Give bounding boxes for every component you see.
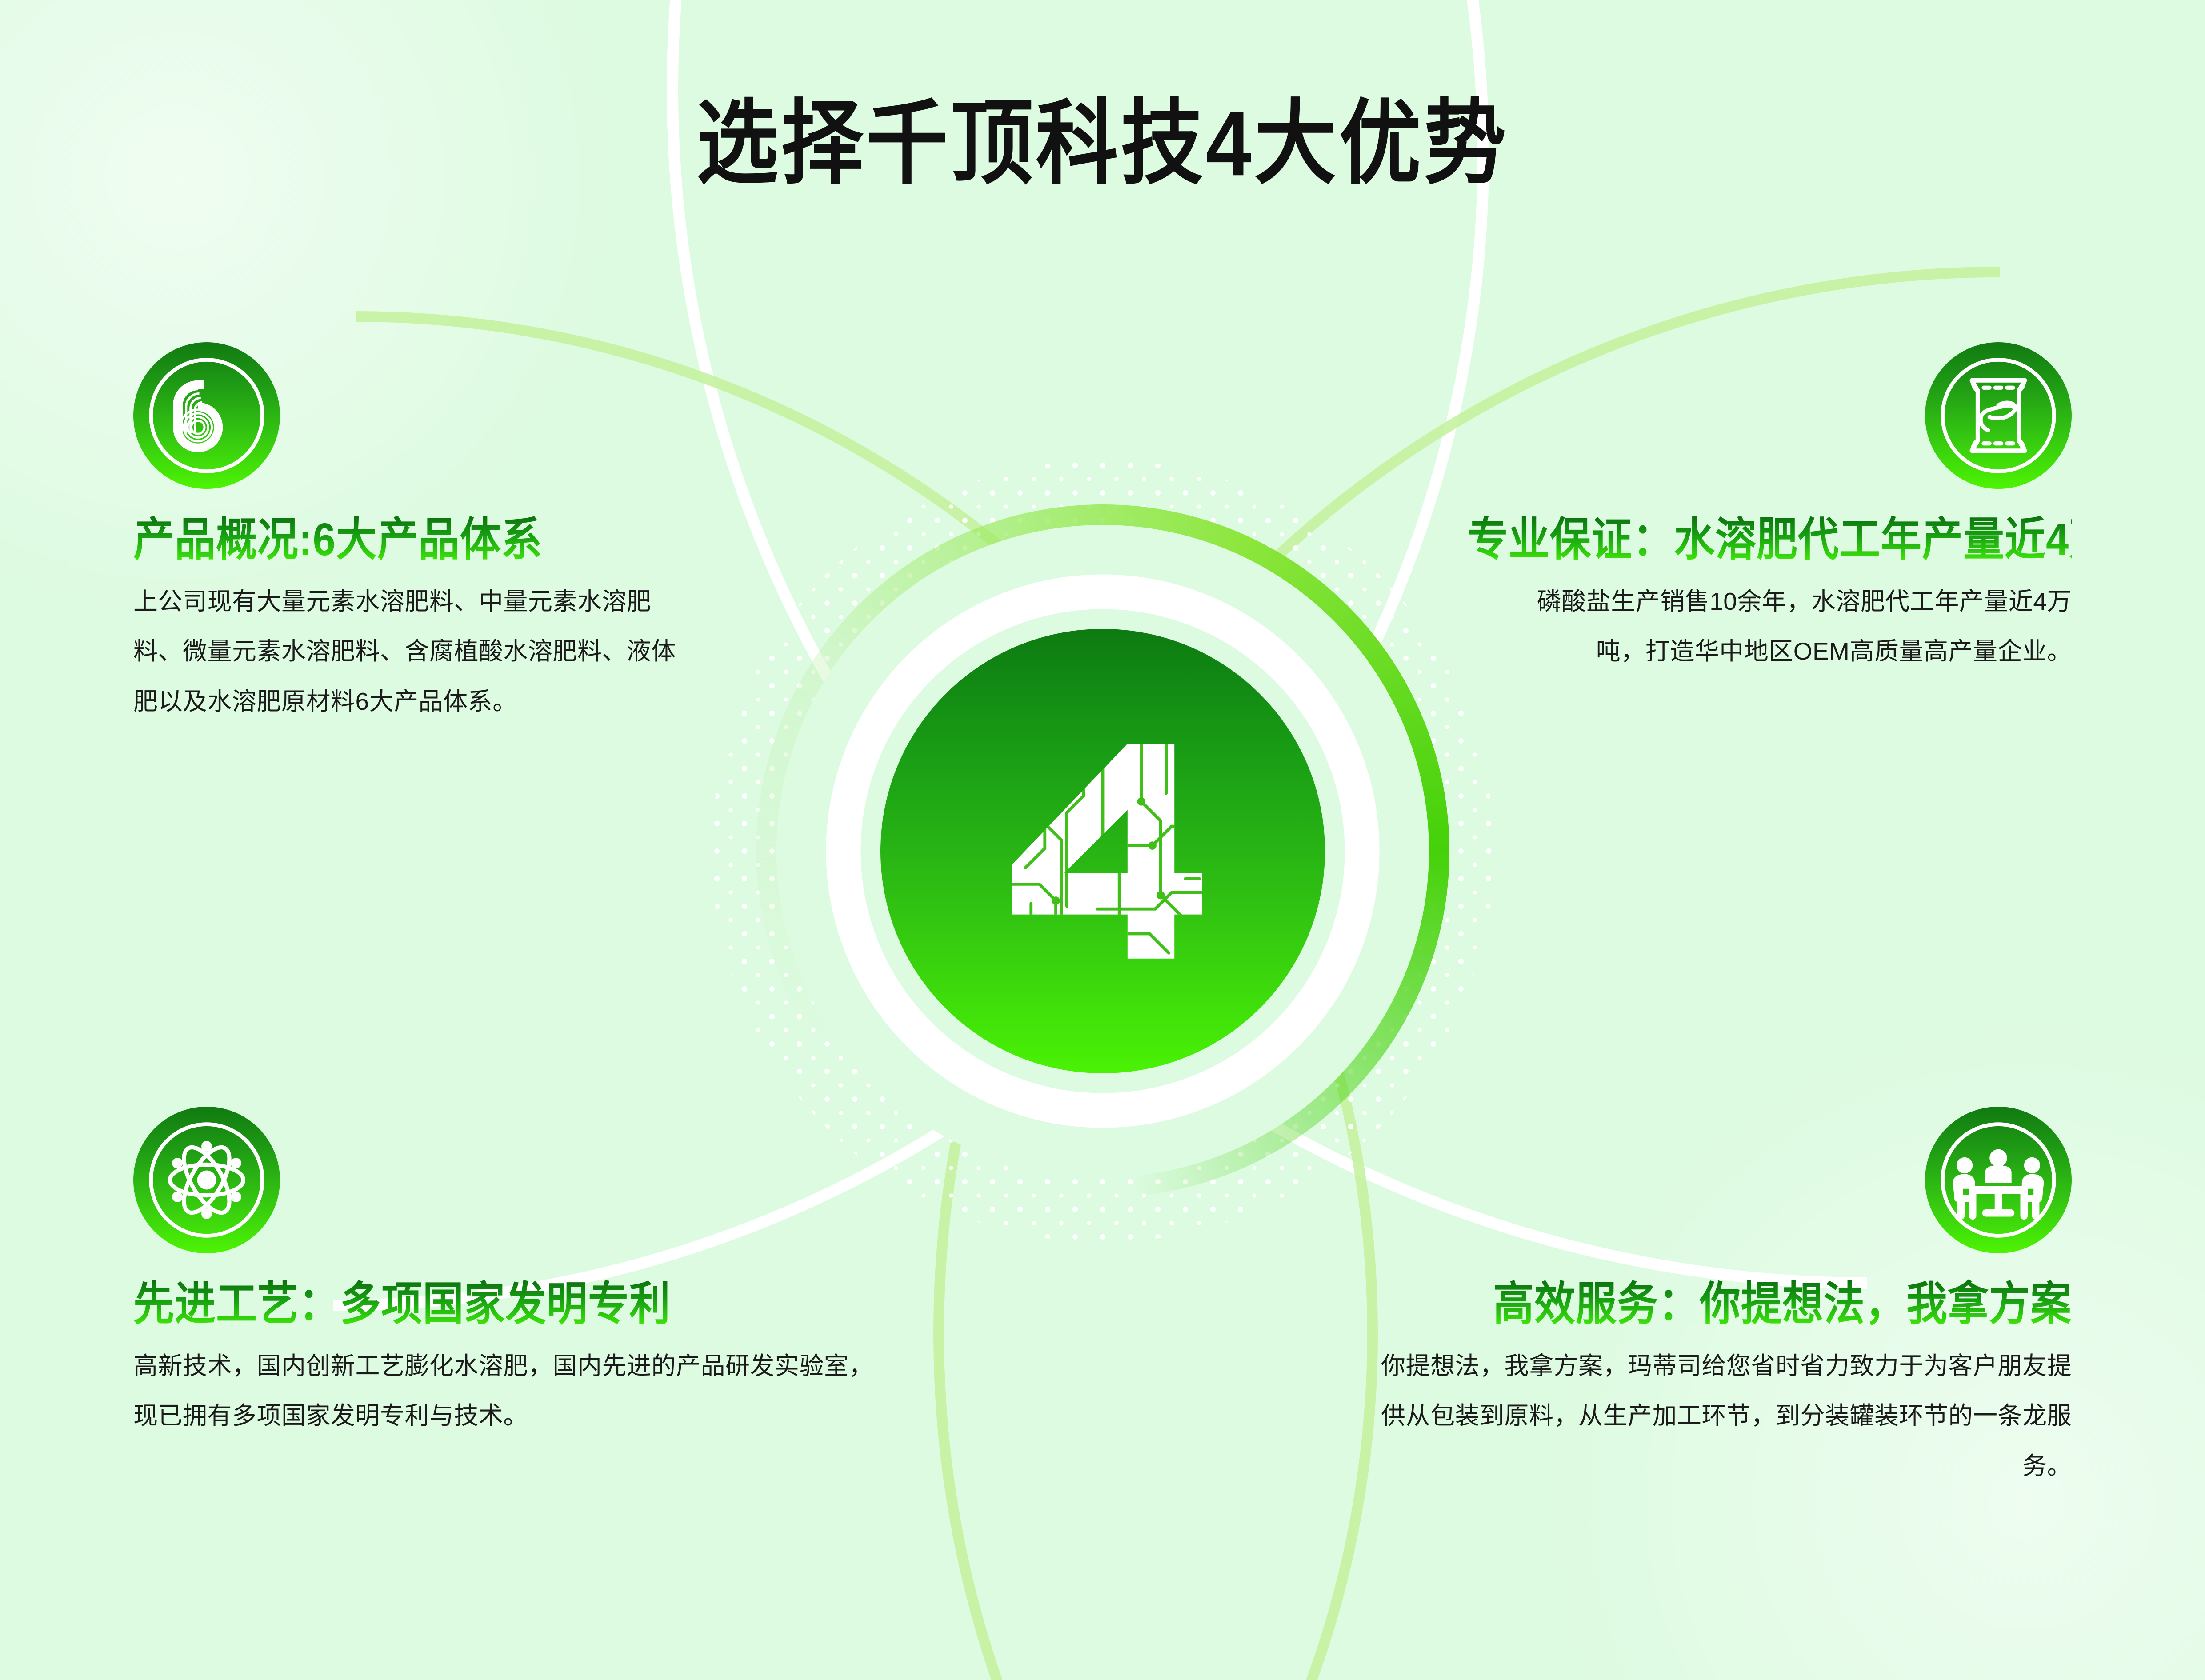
page-title: 选择千顶科技4大优势 [0,96,2205,192]
atom-glyph-icon [133,1107,280,1253]
center-number-disc [880,629,1325,1073]
meeting-people-glyph-icon [1925,1107,2072,1253]
advantage-block-bottom-left: 先进工艺：多项国家发明专利 高新技术，国内创新工艺膨化水溶肥，国内先进的产品研发… [133,1107,916,1441]
advantage-heading: 先进工艺：多项国家发明专利 [133,1277,916,1332]
number-six-rings-icon [133,342,280,489]
advantage-body: 高新技术，国内创新工艺膨化水溶肥，国内先进的产品研发实验室，现已拥有多项国家发明… [133,1341,898,1441]
advantage-heading: 专业保证：水溶肥代工年产量近4万吨 [1467,513,2072,567]
advantage-heading: 高效服务：你提想法，我拿方案 [1352,1277,2072,1332]
advantage-block-top-left: 产品概况:6大产品体系 上公司现有大量元素水溶肥料、中量元素水溶肥料、微量元素水… [133,342,720,727]
advantage-heading: 产品概况:6大产品体系 [133,513,720,567]
advantage-body: 你提想法，我拿方案，玛蒂司给您省时省力致力于为客户朋友提供从包装到原料，从生产加… [1361,1341,2072,1491]
circuit-number-four-icon [965,713,1241,989]
meeting-people-icon [1925,1107,2072,1253]
advantage-block-top-right: 专业保证：水溶肥代工年产量近4万吨 磷酸盐生产销售10余年，水溶肥代工年产量近4… [1467,342,2072,676]
fertilizer-bag-icon [1925,342,2072,489]
advantage-body: 磷酸盐生产销售10余年，水溶肥代工年产量近4万吨，打造华中地区OEM高质量高产量… [1516,576,2072,677]
fertilizer-bag-glyph-icon [1925,342,2072,489]
advantage-body: 上公司现有大量元素水溶肥料、中量元素水溶肥料、微量元素水溶肥料、含腐植酸水溶肥料… [133,576,684,727]
atom-icon [133,1107,280,1253]
number-six-badge-icon [133,342,280,489]
advantage-block-bottom-right: 高效服务：你提想法，我拿方案 你提想法，我拿方案，玛蒂司给您省时省力致力于为客户… [1352,1107,2072,1491]
